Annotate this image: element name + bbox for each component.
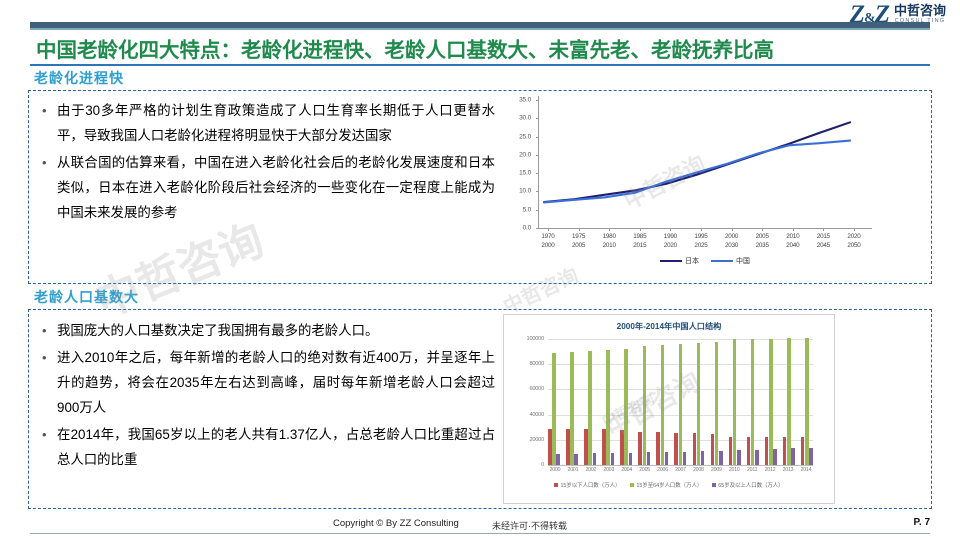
line-chart-axis-horizontal — [538, 228, 872, 229]
bar-chart-population-structure: 2000年-2014年中国人口结构 0200004000060000800001… — [503, 314, 835, 504]
bar — [611, 453, 615, 465]
legend-label: 65岁及以上人口数（万人） — [718, 481, 783, 489]
bar — [737, 450, 741, 465]
legend-swatch — [711, 260, 733, 263]
legend-item: 15岁至64岁人口数（万人） — [630, 481, 702, 489]
bar — [674, 433, 678, 465]
bar — [755, 450, 759, 465]
bar-chart-title: 2000年-2014年中国人口结构 — [504, 320, 834, 332]
line-chart-x-label: 20152045 — [810, 233, 836, 250]
header-rule-secondary — [30, 28, 930, 30]
line-chart-x-label: 19802010 — [596, 233, 622, 250]
bar-chart-y-tick: 0 — [504, 462, 544, 468]
list-item: 在2014年，我国65岁以上的老人共有1.37亿人，占总老龄人口比重超过占总人口… — [40, 422, 495, 472]
bar-group — [747, 339, 759, 465]
bar-chart-x-label: 2013 — [781, 467, 795, 473]
bar-chart-axis-horizontal — [548, 465, 813, 466]
logo-name-cn: 中哲咨询 — [894, 4, 946, 17]
line-chart-y-tick: 25.0 — [519, 133, 531, 140]
line-chart-y-tick: 20.0 — [519, 151, 531, 158]
legend-swatch — [630, 483, 634, 487]
bar — [629, 453, 633, 465]
legend-swatch — [554, 483, 558, 487]
bar — [570, 352, 574, 465]
bar-group — [566, 339, 578, 465]
bar-chart-y-tick: 40000 — [504, 412, 544, 418]
legend-item: 65岁及以上人口数（万人） — [712, 481, 783, 489]
bar — [791, 448, 795, 465]
bar-chart-x-label: 2000 — [548, 467, 562, 473]
bar-group — [656, 339, 668, 465]
bar — [620, 430, 624, 465]
bar-group — [638, 339, 650, 465]
bar-chart-x-label: 2009 — [709, 467, 723, 473]
line-chart-plot-area — [538, 100, 870, 228]
slide-root: Z&Z 中哲咨询 CONSUL TING 中国老龄化四大特点：老龄化进程快、老龄… — [0, 0, 960, 540]
section-heading-2: 老龄人口基数大 — [34, 287, 139, 307]
bar-group — [693, 339, 705, 465]
bar-group — [548, 339, 560, 465]
bar — [643, 346, 647, 465]
line-chart-x-tickmark — [793, 228, 794, 231]
line-chart-y-axis: 0.05.010.015.020.025.030.035.0 — [498, 96, 536, 230]
line-chart-x-tickmark — [548, 228, 549, 231]
line-chart-x-label: 20052035 — [749, 233, 775, 250]
line-chart-x-label: 19852015 — [627, 233, 653, 250]
bar — [606, 350, 610, 465]
line-chart-y-tick: 5.0 — [523, 206, 531, 213]
bar — [783, 437, 787, 465]
line-chart-y-tick: 10.0 — [519, 188, 531, 195]
legend-item-china: 中国 — [711, 256, 750, 266]
bar — [751, 339, 755, 465]
page-number: P. 7 — [914, 517, 931, 528]
list-item: 我国庞大的人口基数决定了我国拥有最多的老龄人口。 — [40, 318, 495, 343]
bar-group — [711, 339, 723, 465]
bar-group — [620, 339, 632, 465]
bar-group — [801, 339, 813, 465]
legend-label: 15岁以下人口数（万人） — [560, 481, 620, 489]
line-chart-x-tickmark — [579, 228, 580, 231]
bar-group — [674, 339, 686, 465]
bar-chart-plot-area — [548, 339, 813, 465]
bar — [679, 344, 683, 465]
bar-chart-x-label: 2002 — [584, 467, 598, 473]
bar-chart-x-axis: 2000200120022003200420052006200720082009… — [548, 467, 813, 473]
line-chart-svg — [538, 100, 870, 228]
bullet-list-1: 由于30多年严格的计划生育政策造成了人口生育率长期低于人口更替水平，导致我国人口… — [40, 98, 495, 227]
list-item: 从联合国的估算来看，中国在进入老龄化社会后的老龄化发展速度和日本类似，日本在进入… — [40, 150, 495, 225]
line-chart-x-tickmark — [854, 228, 855, 231]
bar — [593, 453, 597, 465]
legend-label: 15岁至64岁人口数（万人） — [636, 481, 702, 489]
line-chart-x-tickmark — [670, 228, 671, 231]
bar — [769, 339, 773, 466]
bar-group — [783, 339, 795, 465]
bar — [647, 452, 651, 465]
bar — [715, 342, 719, 465]
bar — [809, 448, 813, 465]
line-chart-x-label: 20202050 — [841, 233, 867, 250]
bar — [801, 437, 805, 465]
section-heading-1: 老龄化进程快 — [34, 68, 124, 88]
list-item: 进入2010年之后，每年新增的老龄人口的绝对数有近400万，并呈逐年上升的趋势，… — [40, 345, 495, 420]
line-chart-x-tickmark — [701, 228, 702, 231]
bar — [638, 432, 642, 465]
bar — [548, 429, 552, 466]
bar-chart-x-label: 2001 — [566, 467, 580, 473]
line-chart-x-tickmark — [823, 228, 824, 231]
bar — [693, 433, 697, 465]
bar — [805, 338, 809, 465]
bar-chart-x-label: 2003 — [602, 467, 616, 473]
line-chart-x-label: 19702000 — [535, 233, 561, 250]
line-chart-y-tick: 0.0 — [523, 225, 531, 232]
bar — [701, 451, 705, 465]
bar — [747, 437, 751, 465]
bar — [773, 449, 777, 465]
bar — [697, 343, 701, 465]
bar — [656, 432, 660, 465]
bar-group — [602, 339, 614, 465]
bar-chart-x-label: 2012 — [763, 467, 777, 473]
legend-label: 中国 — [736, 256, 750, 266]
line-chart-legend: 日本 中国 — [538, 256, 872, 266]
bar-chart-x-label: 2007 — [673, 467, 687, 473]
bar — [729, 437, 733, 465]
line-chart-x-label: 20002030 — [719, 233, 745, 250]
bar — [683, 452, 687, 465]
line-chart-x-label: 19752005 — [566, 233, 592, 250]
bar-chart-x-label: 2010 — [727, 467, 741, 473]
bar-chart-x-label: 2014 — [799, 467, 813, 473]
bar — [574, 454, 578, 465]
bar-chart-x-label: 2006 — [656, 467, 670, 473]
bar — [624, 349, 628, 465]
bar — [552, 353, 556, 465]
bar-chart-y-tick: 60000 — [504, 386, 544, 392]
bar-group — [729, 339, 741, 465]
bar-chart-y-tick: 100000 — [504, 336, 544, 342]
bar-chart-y-tick: 80000 — [504, 361, 544, 367]
bar — [556, 454, 560, 465]
line-chart-x-tickmark — [640, 228, 641, 231]
line-chart-y-tick: 15.0 — [519, 170, 531, 177]
bar — [661, 345, 665, 465]
line-chart-x-tickmark — [732, 228, 733, 231]
bar — [733, 339, 737, 465]
list-item: 由于30多年严格的计划生育政策造成了人口生育率长期低于人口更替水平，导致我国人口… — [40, 98, 495, 148]
line-chart-x-label: 19902020 — [657, 233, 683, 250]
legend-swatch — [712, 483, 716, 487]
legend-item: 15岁以下人口数（万人） — [554, 481, 620, 489]
footer-rule — [30, 533, 930, 534]
bar-chart-x-label: 2005 — [638, 467, 652, 473]
bar — [787, 338, 791, 465]
bar — [584, 429, 588, 465]
line-chart-x-tickmark — [609, 228, 610, 231]
bar-chart-x-label: 2011 — [745, 467, 759, 473]
bar-chart-x-label: 2004 — [620, 467, 634, 473]
bar — [765, 437, 769, 465]
line-chart-aging-japan-china: 0.05.010.015.020.025.030.035.0 日本 中国 197… — [498, 96, 926, 280]
line-chart-x-tickmark — [762, 228, 763, 231]
bar — [665, 452, 669, 465]
line-chart-x-label: 20102040 — [780, 233, 806, 250]
line-chart-y-tick: 35.0 — [519, 97, 531, 104]
bar-chart-bars — [548, 339, 813, 465]
legend-label: 日本 — [685, 256, 699, 266]
legend-item-japan: 日本 — [660, 256, 699, 266]
bar — [588, 351, 592, 465]
bar-group — [765, 339, 777, 465]
legend-swatch — [660, 260, 682, 263]
footer-note: 未经许可·不得转载 — [492, 519, 567, 532]
bar-chart-y-tick: 20000 — [504, 437, 544, 443]
title-underline — [30, 64, 930, 66]
page-title: 中国老龄化四大特点：老龄化进程快、老龄人口基数大、未富先老、老龄抚养比高 — [36, 33, 936, 63]
line-chart-x-label: 19952025 — [688, 233, 714, 250]
bar-chart-legend: 15岁以下人口数（万人）15岁至64岁人口数（万人）65岁及以上人口数（万人） — [504, 481, 834, 489]
bullet-list-2: 我国庞大的人口基数决定了我国拥有最多的老龄人口。 进入2010年之后，每年新增的… — [40, 318, 495, 474]
footer-copyright: Copyright © By ZZ Consulting — [333, 518, 459, 529]
bar — [719, 451, 723, 465]
bar-chart-x-label: 2008 — [691, 467, 705, 473]
bar — [711, 434, 715, 465]
bar-group — [584, 339, 596, 465]
bar — [566, 429, 570, 465]
line-chart-y-tick: 30.0 — [519, 115, 531, 122]
bar — [602, 429, 606, 465]
